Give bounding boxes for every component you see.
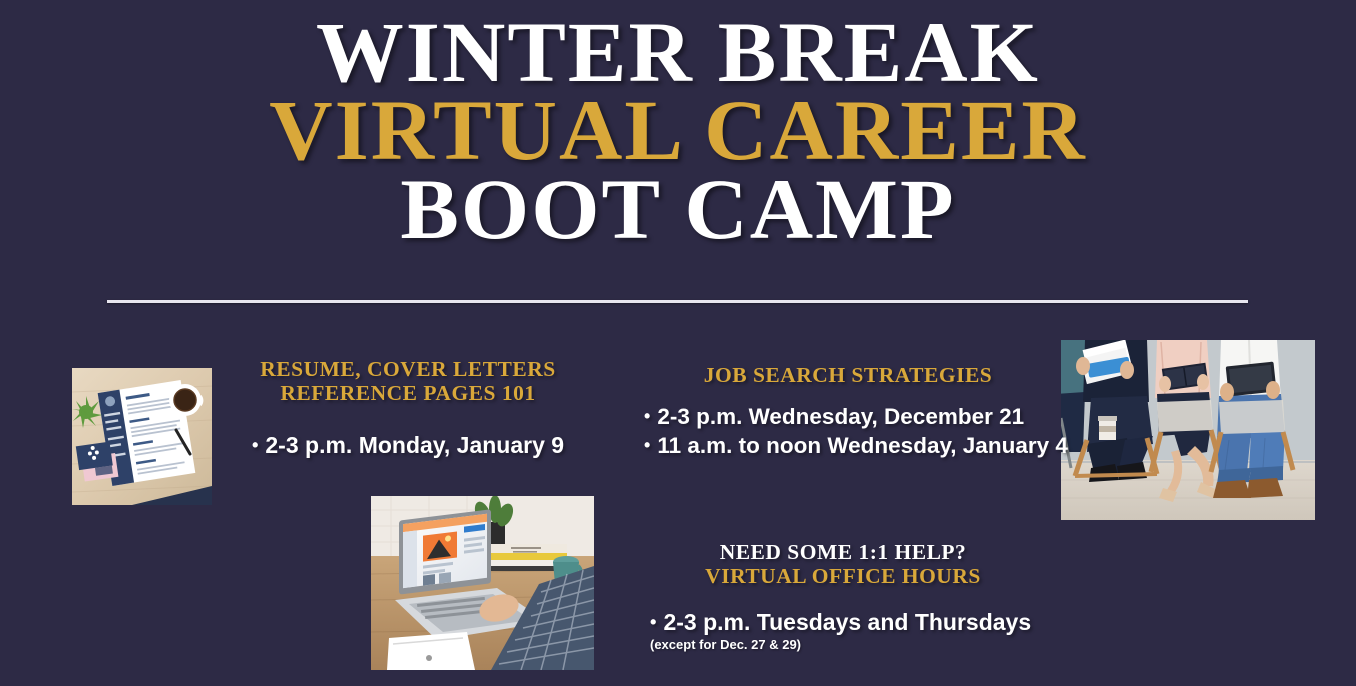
session-office-hours-block: NEED SOME 1:1 HELP? VIRTUAL OFFICE HOURS… — [628, 540, 1058, 652]
session-resume-bullet-1: 2-3 p.m. Monday, January 9 — [265, 432, 564, 458]
bullet-icon: • — [644, 434, 650, 457]
session-office-hours-heading-line1: NEED SOME 1:1 HELP? — [628, 540, 1058, 564]
resume-desk-photo — [72, 368, 212, 505]
session-office-hours-heading-white: NEED SOME 1:1 HELP? — [628, 540, 1058, 564]
title-divider-rule — [107, 300, 1248, 303]
session-resume-heading-line2: REFERENCE PAGES 101 — [218, 381, 598, 405]
title-line-boot-camp: BOOT CAMP — [0, 167, 1356, 251]
poster-title: WINTER BREAK VIRTUAL CAREER BOOT CAMP — [0, 10, 1356, 251]
session-job-search-bullet-2: 11 a.m. to noon Wednesday, January 4 — [657, 433, 1068, 458]
list-item: •2-3 p.m. Wednesday, December 21 — [644, 403, 1068, 432]
poster-canvas: WINTER BREAK VIRTUAL CAREER BOOT CAMP — [0, 0, 1356, 686]
session-job-search-bullet-1: 2-3 p.m. Wednesday, December 21 — [657, 404, 1024, 429]
session-job-search-block: JOB SEARCH STRATEGIES •2-3 p.m. Wednesda… — [628, 363, 1068, 461]
session-job-search-heading-line1: JOB SEARCH STRATEGIES — [628, 363, 1068, 387]
list-item: •11 a.m. to noon Wednesday, January 4 — [644, 432, 1068, 461]
bullet-icon: • — [644, 405, 650, 428]
session-job-search-bullets: •2-3 p.m. Wednesday, December 21 •11 a.m… — [628, 403, 1068, 461]
bullet-icon: • — [650, 610, 656, 634]
session-resume-block: RESUME, COVER LETTERS REFERENCE PAGES 10… — [218, 357, 598, 461]
laptop-work-photo — [371, 496, 594, 670]
list-item: •2-3 p.m. Tuesdays and Thursdays — [650, 608, 1058, 637]
session-office-hours-bullet-1: 2-3 p.m. Tuesdays and Thursdays — [663, 609, 1031, 635]
session-office-hours-note: (except for Dec. 27 & 29) — [628, 637, 1058, 652]
session-office-hours-bullets: •2-3 p.m. Tuesdays and Thursdays — [628, 608, 1058, 637]
list-item: •2-3 p.m. Monday, January 9 — [218, 431, 598, 460]
session-job-search-heading: JOB SEARCH STRATEGIES — [628, 363, 1068, 387]
session-resume-bullets: •2-3 p.m. Monday, January 9 — [218, 431, 598, 460]
bullet-icon: • — [252, 433, 258, 457]
session-resume-heading: RESUME, COVER LETTERS REFERENCE PAGES 10… — [218, 357, 598, 405]
session-resume-heading-line1: RESUME, COVER LETTERS — [218, 357, 598, 381]
session-office-hours-heading-gold: VIRTUAL OFFICE HOURS — [628, 564, 1058, 588]
interview-waiting-photo — [1061, 340, 1315, 520]
session-office-hours-heading-line2: VIRTUAL OFFICE HOURS — [628, 564, 1058, 588]
